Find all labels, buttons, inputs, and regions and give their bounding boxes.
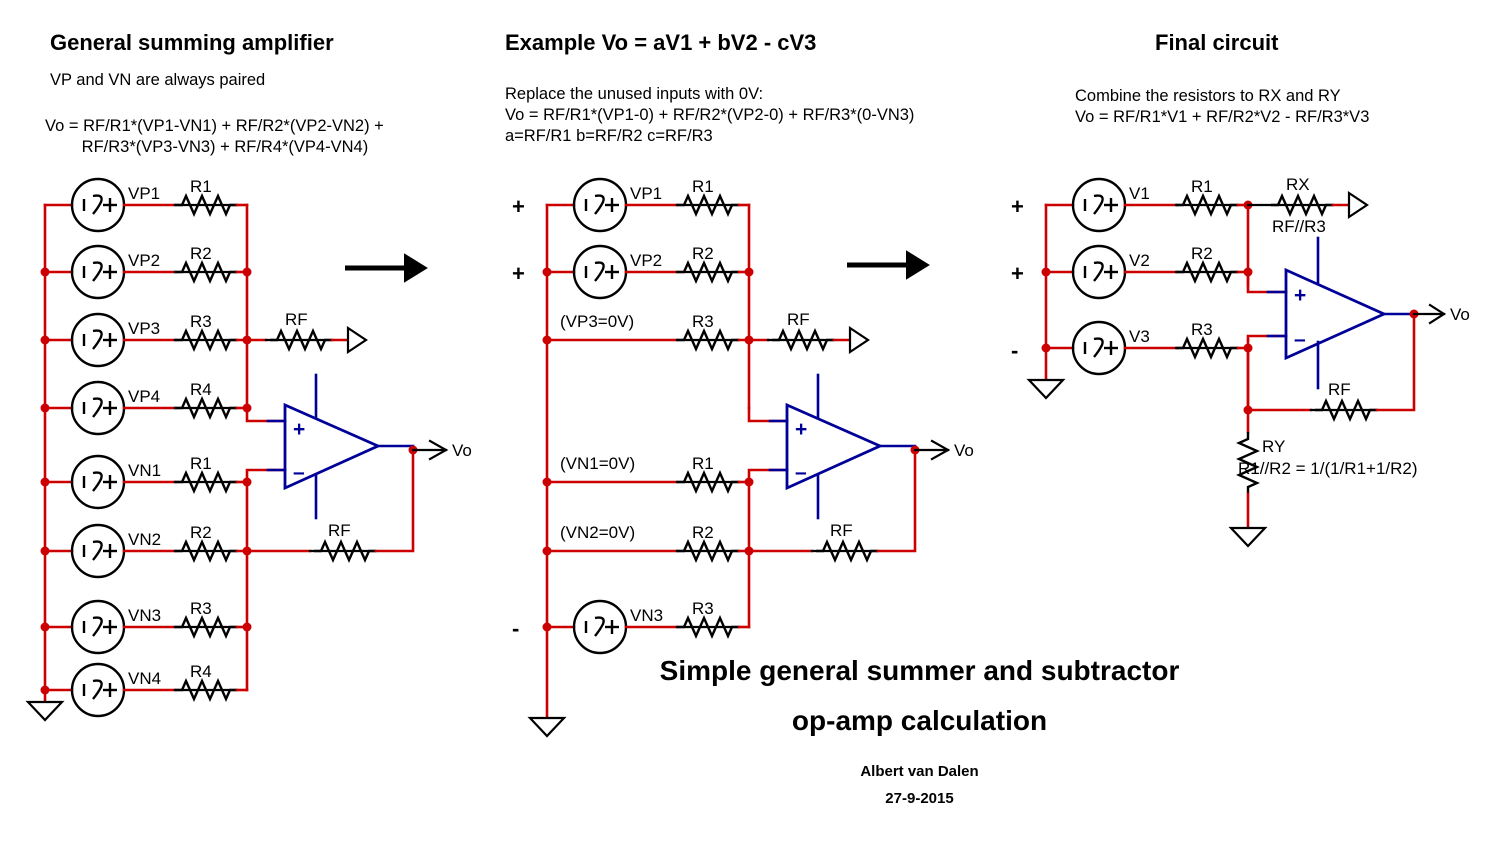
right-marker-row2: + xyxy=(1011,261,1024,286)
middle-resistor-label-2: R2 xyxy=(692,244,714,263)
right-circuit: + + - V1 R1 RX RF//R3 xyxy=(1011,175,1470,546)
middle-resistor-label-6: R3 xyxy=(692,599,714,618)
left-row-vn1: VN1 R1 xyxy=(41,454,252,508)
left-row-vp4: VP4 R4 xyxy=(41,380,252,434)
circuit-canvas: VP1 R1 VP2 R2 VP3 R3 xyxy=(0,0,1509,841)
source-label-vp1: VP1 xyxy=(128,184,160,203)
right-ry-branch: RY R1//R2 = 1/(1/R1+1/R2) xyxy=(1231,410,1418,546)
middle-resistor-label-3: R3 xyxy=(692,312,714,331)
source-label-vp2: VP2 xyxy=(128,251,160,270)
resistor-label-r4: R4 xyxy=(190,380,212,399)
middle-resistor-label-1: R1 xyxy=(692,177,714,196)
middle-marker-row1: + xyxy=(512,194,525,219)
resistor-label-r2: R2 xyxy=(190,244,212,263)
middle-row-vn1: (VN1=0V) R1 xyxy=(543,454,754,491)
middle-opamp-minus-label: – xyxy=(795,461,807,484)
right-source-label-3: V3 xyxy=(1129,327,1150,346)
right-resistor-label-2: R2 xyxy=(1191,244,1213,263)
left-row-vp3: VP3 R3 RF xyxy=(41,310,367,366)
voltage-source-icon xyxy=(72,179,124,231)
resistor-label-r1b: R1 xyxy=(190,454,212,473)
middle-row-vp2: VP2 R2 xyxy=(543,244,754,298)
rf-label: RF xyxy=(1328,380,1351,399)
rx-label: RX xyxy=(1286,175,1310,194)
output-terminal-icon xyxy=(348,328,366,352)
middle-marker-row6: - xyxy=(512,616,519,641)
middle-source-label-3: (VP3=0V) xyxy=(560,312,634,331)
ry-value-label: R1//R2 = 1/(1/R1+1/R2) xyxy=(1238,459,1418,478)
resistor-label-r1: R1 xyxy=(190,177,212,196)
right-source-label-1: V1 xyxy=(1129,184,1150,203)
ground-icon xyxy=(28,702,62,720)
middle-marker-row2: + xyxy=(512,261,525,286)
right-output-label: Vo xyxy=(1450,305,1470,324)
source-label-vn4: VN4 xyxy=(128,669,161,688)
left-minus-input-wire xyxy=(247,470,285,482)
left-opamp: + – Vo xyxy=(268,375,472,518)
right-terminal-icon xyxy=(1349,193,1367,217)
middle-source-label-5: (VN2=0V) xyxy=(560,523,635,542)
left-row-vp2: VP2 R2 xyxy=(41,244,252,298)
right-marker-row3: - xyxy=(1011,338,1018,363)
feedback-label-bottom: RF xyxy=(328,521,351,540)
left-plus-input-wire xyxy=(247,408,285,421)
left-row-vp1: VP1 R1 xyxy=(45,177,247,231)
right-marker-row1: + xyxy=(1011,194,1024,219)
middle-ground-icon xyxy=(530,718,564,736)
resistor-label-r3b: R3 xyxy=(190,599,212,618)
left-row-vn3: VN3 R3 xyxy=(41,599,252,653)
right-opamp-minus-label: – xyxy=(1294,328,1306,351)
source-label-vn3: VN3 xyxy=(128,606,161,625)
middle-row-vp1: VP1 R1 xyxy=(547,177,749,231)
left-row-vn2: VN2 R2 RF xyxy=(41,450,414,577)
right-opamp: + – Vo xyxy=(1268,238,1470,388)
arrow-middle-to-right xyxy=(847,252,928,278)
ry-label: RY xyxy=(1262,437,1285,456)
right-row-v1: V1 R1 RX RF//R3 xyxy=(1046,175,1367,236)
middle-plus-input-wire xyxy=(749,408,787,421)
right-feedback-row: RF xyxy=(1248,314,1414,419)
middle-source-label-4: (VN1=0V) xyxy=(560,454,635,473)
resistor-label-r2b: R2 xyxy=(190,523,212,542)
rx-value-label: RF//R3 xyxy=(1272,217,1326,236)
middle-source-label-1: VP1 xyxy=(630,184,662,203)
middle-opamp: + – Vo xyxy=(770,375,974,518)
source-label-vp3: VP3 xyxy=(128,319,160,338)
middle-minus-input-wire xyxy=(749,470,787,482)
source-label-vn2: VN2 xyxy=(128,530,161,549)
right-opamp-plus-label: + xyxy=(1294,284,1306,307)
right-row-v2: V2 R2 xyxy=(1042,244,1253,298)
left-row-vn4: VN4 R4 xyxy=(41,662,248,716)
middle-circuit: + + - VP1 R1 VP2 R2 xyxy=(512,177,974,736)
middle-source-label-2: VP2 xyxy=(630,251,662,270)
right-ground-icon-bottom xyxy=(1231,528,1265,546)
right-resistor-label-1: R1 xyxy=(1191,177,1213,196)
middle-resistor-label-5: R2 xyxy=(692,523,714,542)
resistor-label-r4b: R4 xyxy=(190,662,212,681)
middle-resistor-label-4: R1 xyxy=(692,454,714,473)
resistor-label-r3: R3 xyxy=(190,312,212,331)
middle-output-label: Vo xyxy=(954,441,974,460)
left-output-label: Vo xyxy=(452,441,472,460)
opamp-plus-input-label: + xyxy=(293,418,305,441)
right-plus-input-wire xyxy=(1248,272,1286,292)
middle-output-terminal-icon xyxy=(850,328,868,352)
middle-row-vp3: (VP3=0V) R3 RF xyxy=(543,310,869,352)
feedback-label-top: RF xyxy=(285,310,308,329)
right-ground-icon-top xyxy=(1029,380,1063,398)
source-label-vp4: VP4 xyxy=(128,387,160,406)
middle-row-vn3: VN3 R3 xyxy=(543,599,750,653)
middle-feedback-label-top: RF xyxy=(787,310,810,329)
right-source-label-2: V2 xyxy=(1129,251,1150,270)
right-row-v3: V3 R3 xyxy=(1042,320,1253,374)
middle-feedback-label-bottom: RF xyxy=(830,521,853,540)
source-label-vn1: VN1 xyxy=(128,461,161,480)
middle-opamp-plus-label: + xyxy=(795,418,807,441)
right-resistor-label-3: R3 xyxy=(1191,320,1213,339)
opamp-minus-input-label: – xyxy=(293,461,305,484)
middle-source-label-6: VN3 xyxy=(630,606,663,625)
arrow-left-to-middle xyxy=(345,255,426,281)
